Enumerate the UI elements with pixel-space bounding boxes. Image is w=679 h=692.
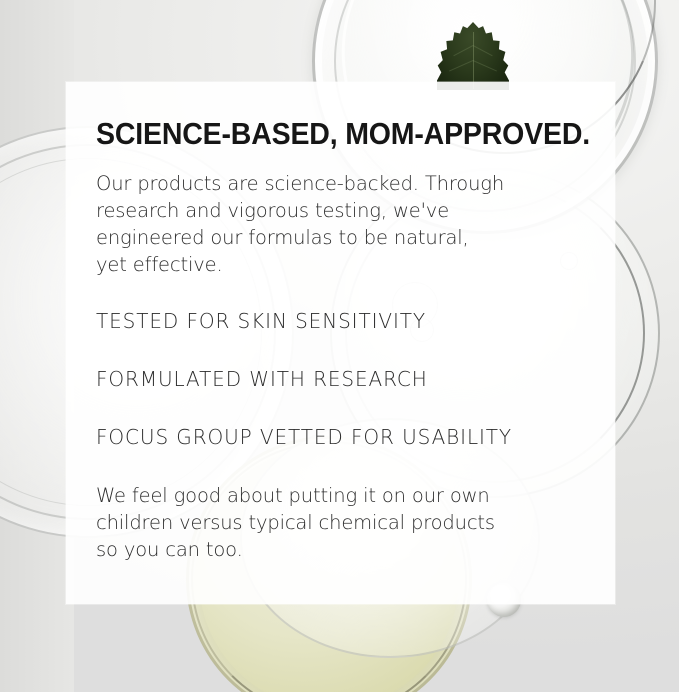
feature-item-research: FORMULATED WITH RESEARCH (96, 369, 428, 389)
page-title: SCIENCE-BASED, MOM-APPROVED. (96, 118, 590, 149)
marketing-graphic: SCIENCE-BASED, MOM-APPROVED. Our product… (0, 0, 679, 692)
leaf-vein (473, 60, 497, 71)
feature-item-usability: FOCUS GROUP VETTED FOR USABILITY (96, 427, 512, 447)
leaf-vein (453, 45, 473, 56)
intro-paragraph: Our products are science-backed. Through… (96, 170, 596, 278)
feature-item-skin-sensitivity: TESTED FOR SKIN SENSITIVITY (96, 311, 426, 331)
leaf-vein (449, 60, 473, 71)
text-panel: SCIENCE-BASED, MOM-APPROVED. Our product… (66, 82, 615, 604)
outro-paragraph: We feel good about putting it on our own… (96, 482, 596, 563)
leaf-vein (473, 45, 493, 56)
